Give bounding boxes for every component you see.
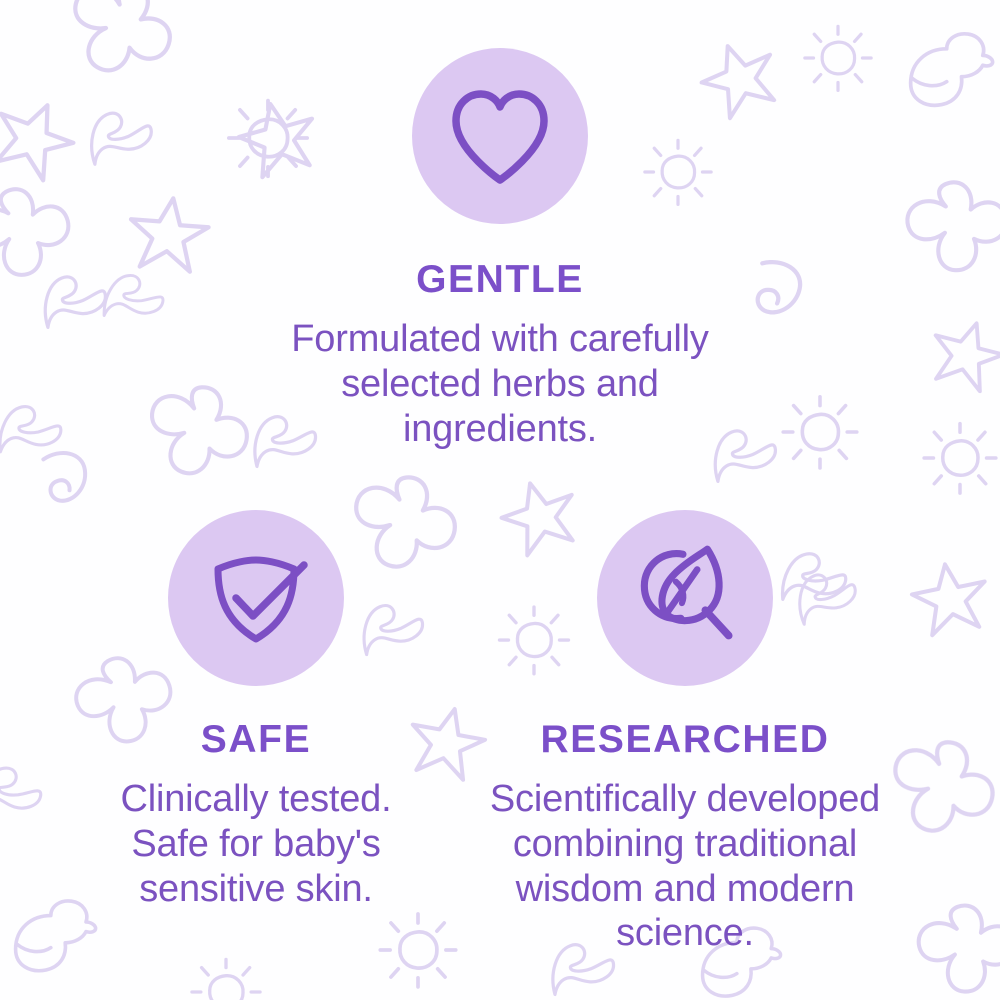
heart-icon (440, 76, 560, 196)
feature-icon-circle-safe (168, 510, 344, 686)
description-line: Scientifically developed (470, 777, 900, 822)
feature-card-safe: SAFE Clinically tested. Safe for baby's … (56, 510, 456, 911)
description-line: Clinically tested. (56, 777, 456, 822)
feature-description-gentle: Formulated with carefully selected herbs… (250, 317, 750, 451)
description-line: combining traditional (470, 822, 900, 867)
feature-title-researched: RESEARCHED (470, 720, 900, 759)
feature-title-safe: SAFE (56, 720, 456, 759)
description-line: selected herbs and (250, 362, 750, 407)
leaf-magnifier-icon (624, 537, 746, 659)
infographic-canvas: GENTLE Formulated with carefully selecte… (0, 0, 1000, 1000)
feature-description-researched: Scientifically developed combining tradi… (470, 777, 900, 956)
shield-check-icon (196, 538, 316, 658)
description-line: wisdom and modern science. (470, 867, 900, 957)
feature-icon-circle-researched (597, 510, 773, 686)
feature-card-gentle: GENTLE Formulated with carefully selecte… (250, 48, 750, 451)
feature-card-researched: RESEARCHED Scientifically developed comb… (470, 510, 900, 956)
description-line: sensitive skin. (56, 867, 456, 912)
feature-icon-circle-gentle (412, 48, 588, 224)
description-line: Safe for baby's (56, 822, 456, 867)
feature-description-safe: Clinically tested. Safe for baby's sensi… (56, 777, 456, 911)
feature-title-gentle: GENTLE (250, 260, 750, 299)
description-line: Formulated with carefully (250, 317, 750, 362)
description-line: ingredients. (250, 407, 750, 452)
